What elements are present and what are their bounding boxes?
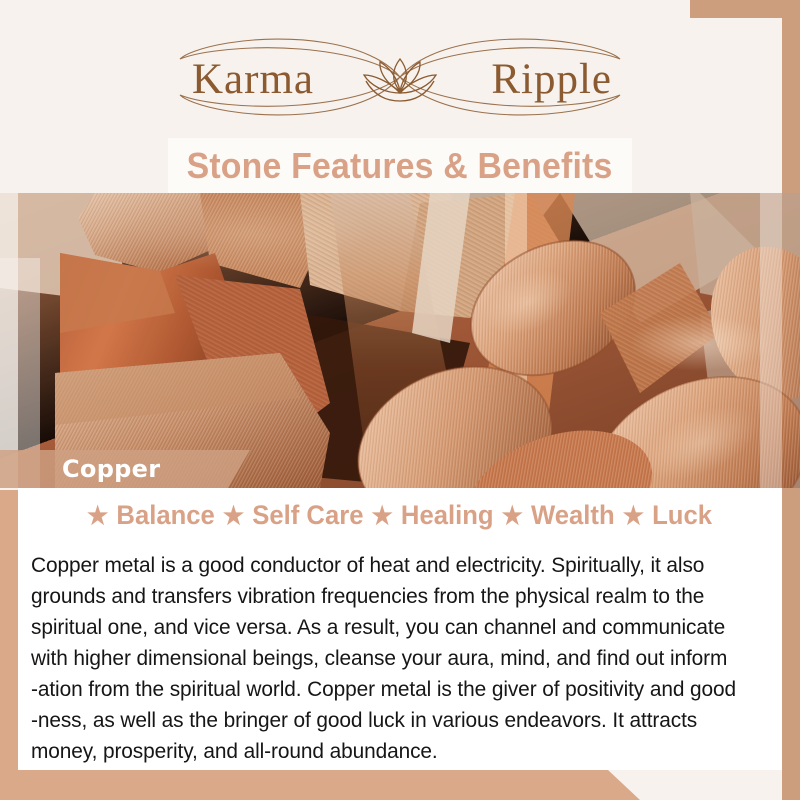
keyword-balance: Balance (108, 500, 223, 530)
brand-name-right: Ripple (491, 55, 612, 104)
stone-name-banner: Copper (0, 450, 250, 488)
star-icon: ★ (502, 502, 523, 530)
lotus-icon (364, 59, 436, 101)
keyword-healing: Healing (393, 500, 502, 530)
description-line: money, prosperity, and all-round abundan… (31, 736, 749, 767)
page-title: Stone Features & Benefits (187, 145, 613, 187)
brand-logo: Karma Ripple (0, 22, 800, 132)
brand-name-left: Karma (192, 55, 314, 104)
keyword-wealth: Wealth (523, 500, 623, 530)
stone-name-label: Copper (62, 455, 160, 483)
product-info-poster: Karma Ripple Stone Features & Benefits (0, 0, 800, 800)
copper-rods-photo (0, 193, 800, 488)
star-icon: ★ (623, 502, 644, 530)
photo-overlay-right-strip (760, 193, 782, 488)
description-line: with higher dimensional beings, cleanse … (31, 643, 749, 674)
star-icon: ★ (372, 502, 393, 530)
frame-accent-left (0, 490, 18, 800)
benefit-keywords-row: ★ Balance ★ Self Care ★ Healing ★ Wealth… (37, 500, 763, 531)
description-line: grounds and transfers vibration frequenc… (31, 581, 749, 612)
keyword-self-care: Self Care (244, 500, 371, 530)
frame-accent-bottom (0, 770, 640, 800)
description-text: Copper metal is a good conductor of heat… (31, 550, 749, 767)
section-title-band: Stone Features & Benefits (168, 138, 632, 193)
star-icon: ★ (87, 502, 108, 530)
star-icon: ★ (223, 502, 244, 530)
photo-artwork (0, 193, 800, 488)
description-line: Copper metal is a good conductor of heat… (31, 550, 749, 581)
content-panel: ★ Balance ★ Self Care ★ Healing ★ Wealth… (18, 488, 782, 770)
description-line: -ness, as well as the bringer of good lu… (31, 705, 749, 736)
description-line: spiritual one, and vice versa. As a resu… (31, 612, 749, 643)
keyword-luck: Luck (644, 500, 713, 530)
description-line: -ation from the spiritual world. Copper … (31, 674, 749, 705)
